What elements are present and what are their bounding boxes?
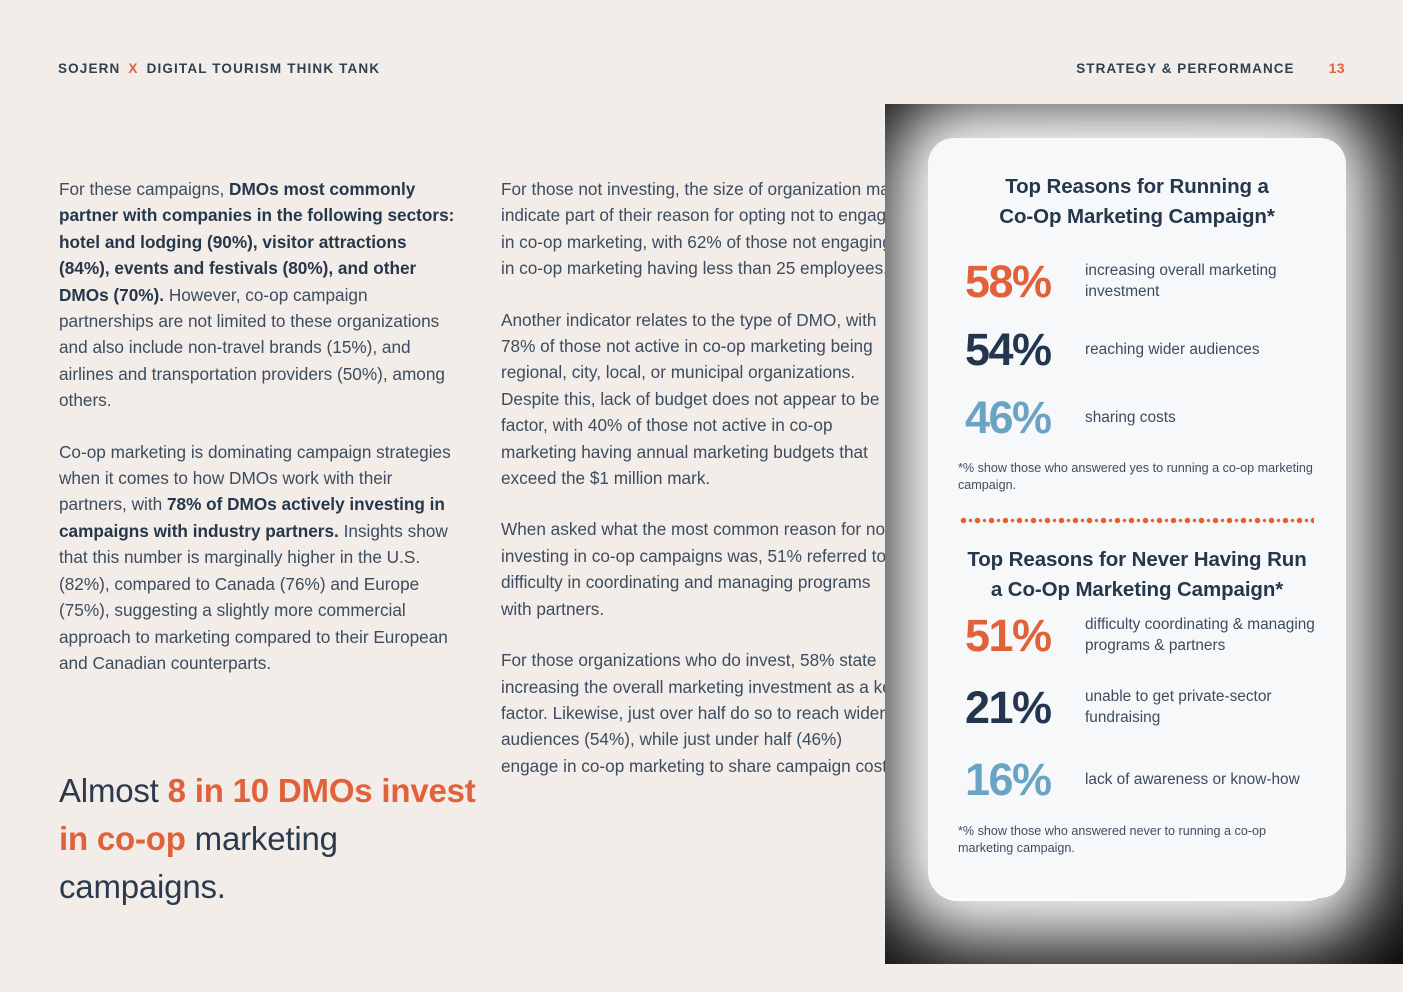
card-section2-footnote: *% show those who answered never to runn… — [958, 823, 1316, 857]
stat-row: 21% unable to get private-sector fundrai… — [958, 677, 1316, 737]
card-section1-footnote: *% show those who answered yes to runnin… — [958, 460, 1316, 494]
brand-x-separator: X — [128, 61, 138, 76]
stats-card: Top Reasons for Running a Co-Op Marketin… — [928, 138, 1346, 898]
card-section1-stats: 58% increasing overall marketing investm… — [958, 252, 1316, 446]
stat-value: 16% — [958, 757, 1083, 802]
card-section2-title-line2: a Co-Op Marketing Campaign* — [991, 578, 1283, 601]
header-right-group: STRATEGY & PERFORMANCE 13 — [1076, 60, 1345, 76]
stat-row: 16% lack of awareness or know-how — [958, 749, 1316, 809]
card-section2-stats: 51% difficulty coordinating & managing p… — [958, 605, 1316, 809]
mid-paragraph-4: For those organizations who do invest, 5… — [501, 647, 901, 779]
stat-value: 51% — [958, 613, 1083, 658]
pull-quote-part1: Almost — [59, 772, 168, 809]
mid-paragraph-3: When asked what the most common reason f… — [501, 516, 901, 622]
stat-row: 46% sharing costs — [958, 388, 1316, 446]
dotted-divider — [960, 516, 1314, 525]
left-paragraph-2: Co-op marketing is dominating campaign s… — [59, 439, 459, 677]
card-section1-title-line2: Co-Op Marketing Campaign* — [999, 205, 1274, 228]
page-header: SOJERN X DIGITAL TOURISM THINK TANK STRA… — [58, 58, 1345, 78]
card-section1-title-line1: Top Reasons for Running a — [1005, 175, 1269, 198]
stat-label: increasing overall marketing investment — [1083, 260, 1316, 302]
card-section2-title: Top Reasons for Never Having Run a Co-Op… — [966, 545, 1308, 605]
stat-label: difficulty coordinating & managing progr… — [1083, 614, 1316, 656]
left-paragraph-1: For these campaigns, DMOs most commonly … — [59, 176, 459, 414]
stat-label: lack of awareness or know-how — [1083, 769, 1300, 790]
stats-card-content: Top Reasons for Running a Co-Op Marketin… — [928, 138, 1346, 857]
stat-label: sharing costs — [1083, 407, 1176, 428]
stat-row: 51% difficulty coordinating & managing p… — [958, 605, 1316, 665]
mid-paragraph-2: Another indicator relates to the type of… — [501, 307, 901, 492]
section-title: STRATEGY & PERFORMANCE — [1076, 61, 1294, 76]
brand-sojern: SOJERN — [58, 61, 120, 76]
page-root: SOJERN X DIGITAL TOURISM THINK TANK STRA… — [0, 0, 1403, 992]
brand-dttt: DIGITAL TOURISM THINK TANK — [147, 61, 381, 76]
stat-value: 21% — [958, 685, 1083, 730]
stat-label: unable to get private-sector fundraising — [1083, 686, 1316, 728]
brand-lockup: SOJERN X DIGITAL TOURISM THINK TANK — [58, 61, 380, 76]
stat-label: reaching wider audiences — [1083, 339, 1260, 360]
card-section1-title: Top Reasons for Running a Co-Op Marketin… — [966, 172, 1308, 232]
middle-text-column: For those not investing, the size of org… — [501, 176, 901, 779]
stat-value: 58% — [958, 259, 1083, 304]
mid-paragraph-1: For those not investing, the size of org… — [501, 176, 901, 282]
stat-value: 46% — [958, 395, 1083, 440]
left-text-column: For these campaigns, DMOs most commonly … — [59, 176, 459, 676]
stat-row: 54% reaching wider audiences — [958, 320, 1316, 378]
pull-quote-statement: Almost 8 in 10 DMOs invest in co-op mark… — [59, 767, 489, 911]
stat-row: 58% increasing overall marketing investm… — [958, 252, 1316, 310]
stat-value: 54% — [958, 327, 1083, 372]
left-p1-lead: For these campaigns, — [59, 179, 229, 199]
page-number: 13 — [1329, 60, 1345, 76]
left-p2-tail: Insights show that this number is margin… — [59, 521, 448, 673]
card-section2-title-line1: Top Reasons for Never Having Run — [967, 548, 1306, 571]
